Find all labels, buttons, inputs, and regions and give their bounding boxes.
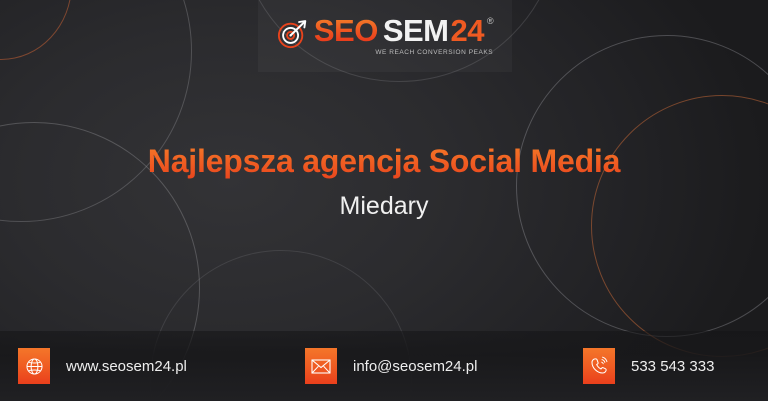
logo-panel: SEO SEM 24 ® WE REACH CONVERSION PEAKS bbox=[258, 0, 512, 72]
decorative-circle-orange-right bbox=[591, 95, 768, 357]
logo-words: SEO SEM 24 ® bbox=[314, 15, 493, 46]
contact-item-email[interactable]: info@seosem24.pl bbox=[305, 348, 477, 384]
contact-label-phone: 533 543 333 bbox=[631, 358, 714, 375]
logo-24-text: 24 bbox=[451, 15, 484, 46]
target-arrow-icon bbox=[277, 19, 307, 49]
logo-sem-text: SEM bbox=[383, 15, 449, 46]
contact-footer: www.seosem24.pl info@seosem24.pl bbox=[0, 331, 768, 401]
decorative-circle-orange-topleft bbox=[0, 0, 72, 60]
logo-tagline: WE REACH CONVERSION PEAKS bbox=[314, 50, 493, 57]
envelope-icon bbox=[305, 348, 337, 384]
logo-seo-text: SEO bbox=[314, 15, 378, 46]
hero-text-block: Najlepsza agencja Social Media Miedary bbox=[0, 143, 768, 221]
contact-item-website[interactable]: www.seosem24.pl bbox=[18, 348, 187, 384]
promo-banner: SEO SEM 24 ® WE REACH CONVERSION PEAKS N… bbox=[0, 0, 768, 401]
logo-wordmark: SEO SEM 24 ® WE REACH CONVERSION PEAKS bbox=[314, 15, 493, 57]
page-subtitle: Miedary bbox=[0, 192, 768, 221]
brand-logo: SEO SEM 24 ® WE REACH CONVERSION PEAKS bbox=[277, 15, 493, 57]
contact-label-email: info@seosem24.pl bbox=[353, 358, 477, 375]
globe-icon bbox=[18, 348, 50, 384]
phone-icon bbox=[583, 348, 615, 384]
registered-mark-icon: ® bbox=[487, 17, 493, 26]
page-title: Najlepsza agencja Social Media bbox=[0, 143, 768, 180]
contact-item-phone[interactable]: 533 543 333 bbox=[583, 348, 714, 384]
contact-label-website: www.seosem24.pl bbox=[66, 358, 187, 375]
